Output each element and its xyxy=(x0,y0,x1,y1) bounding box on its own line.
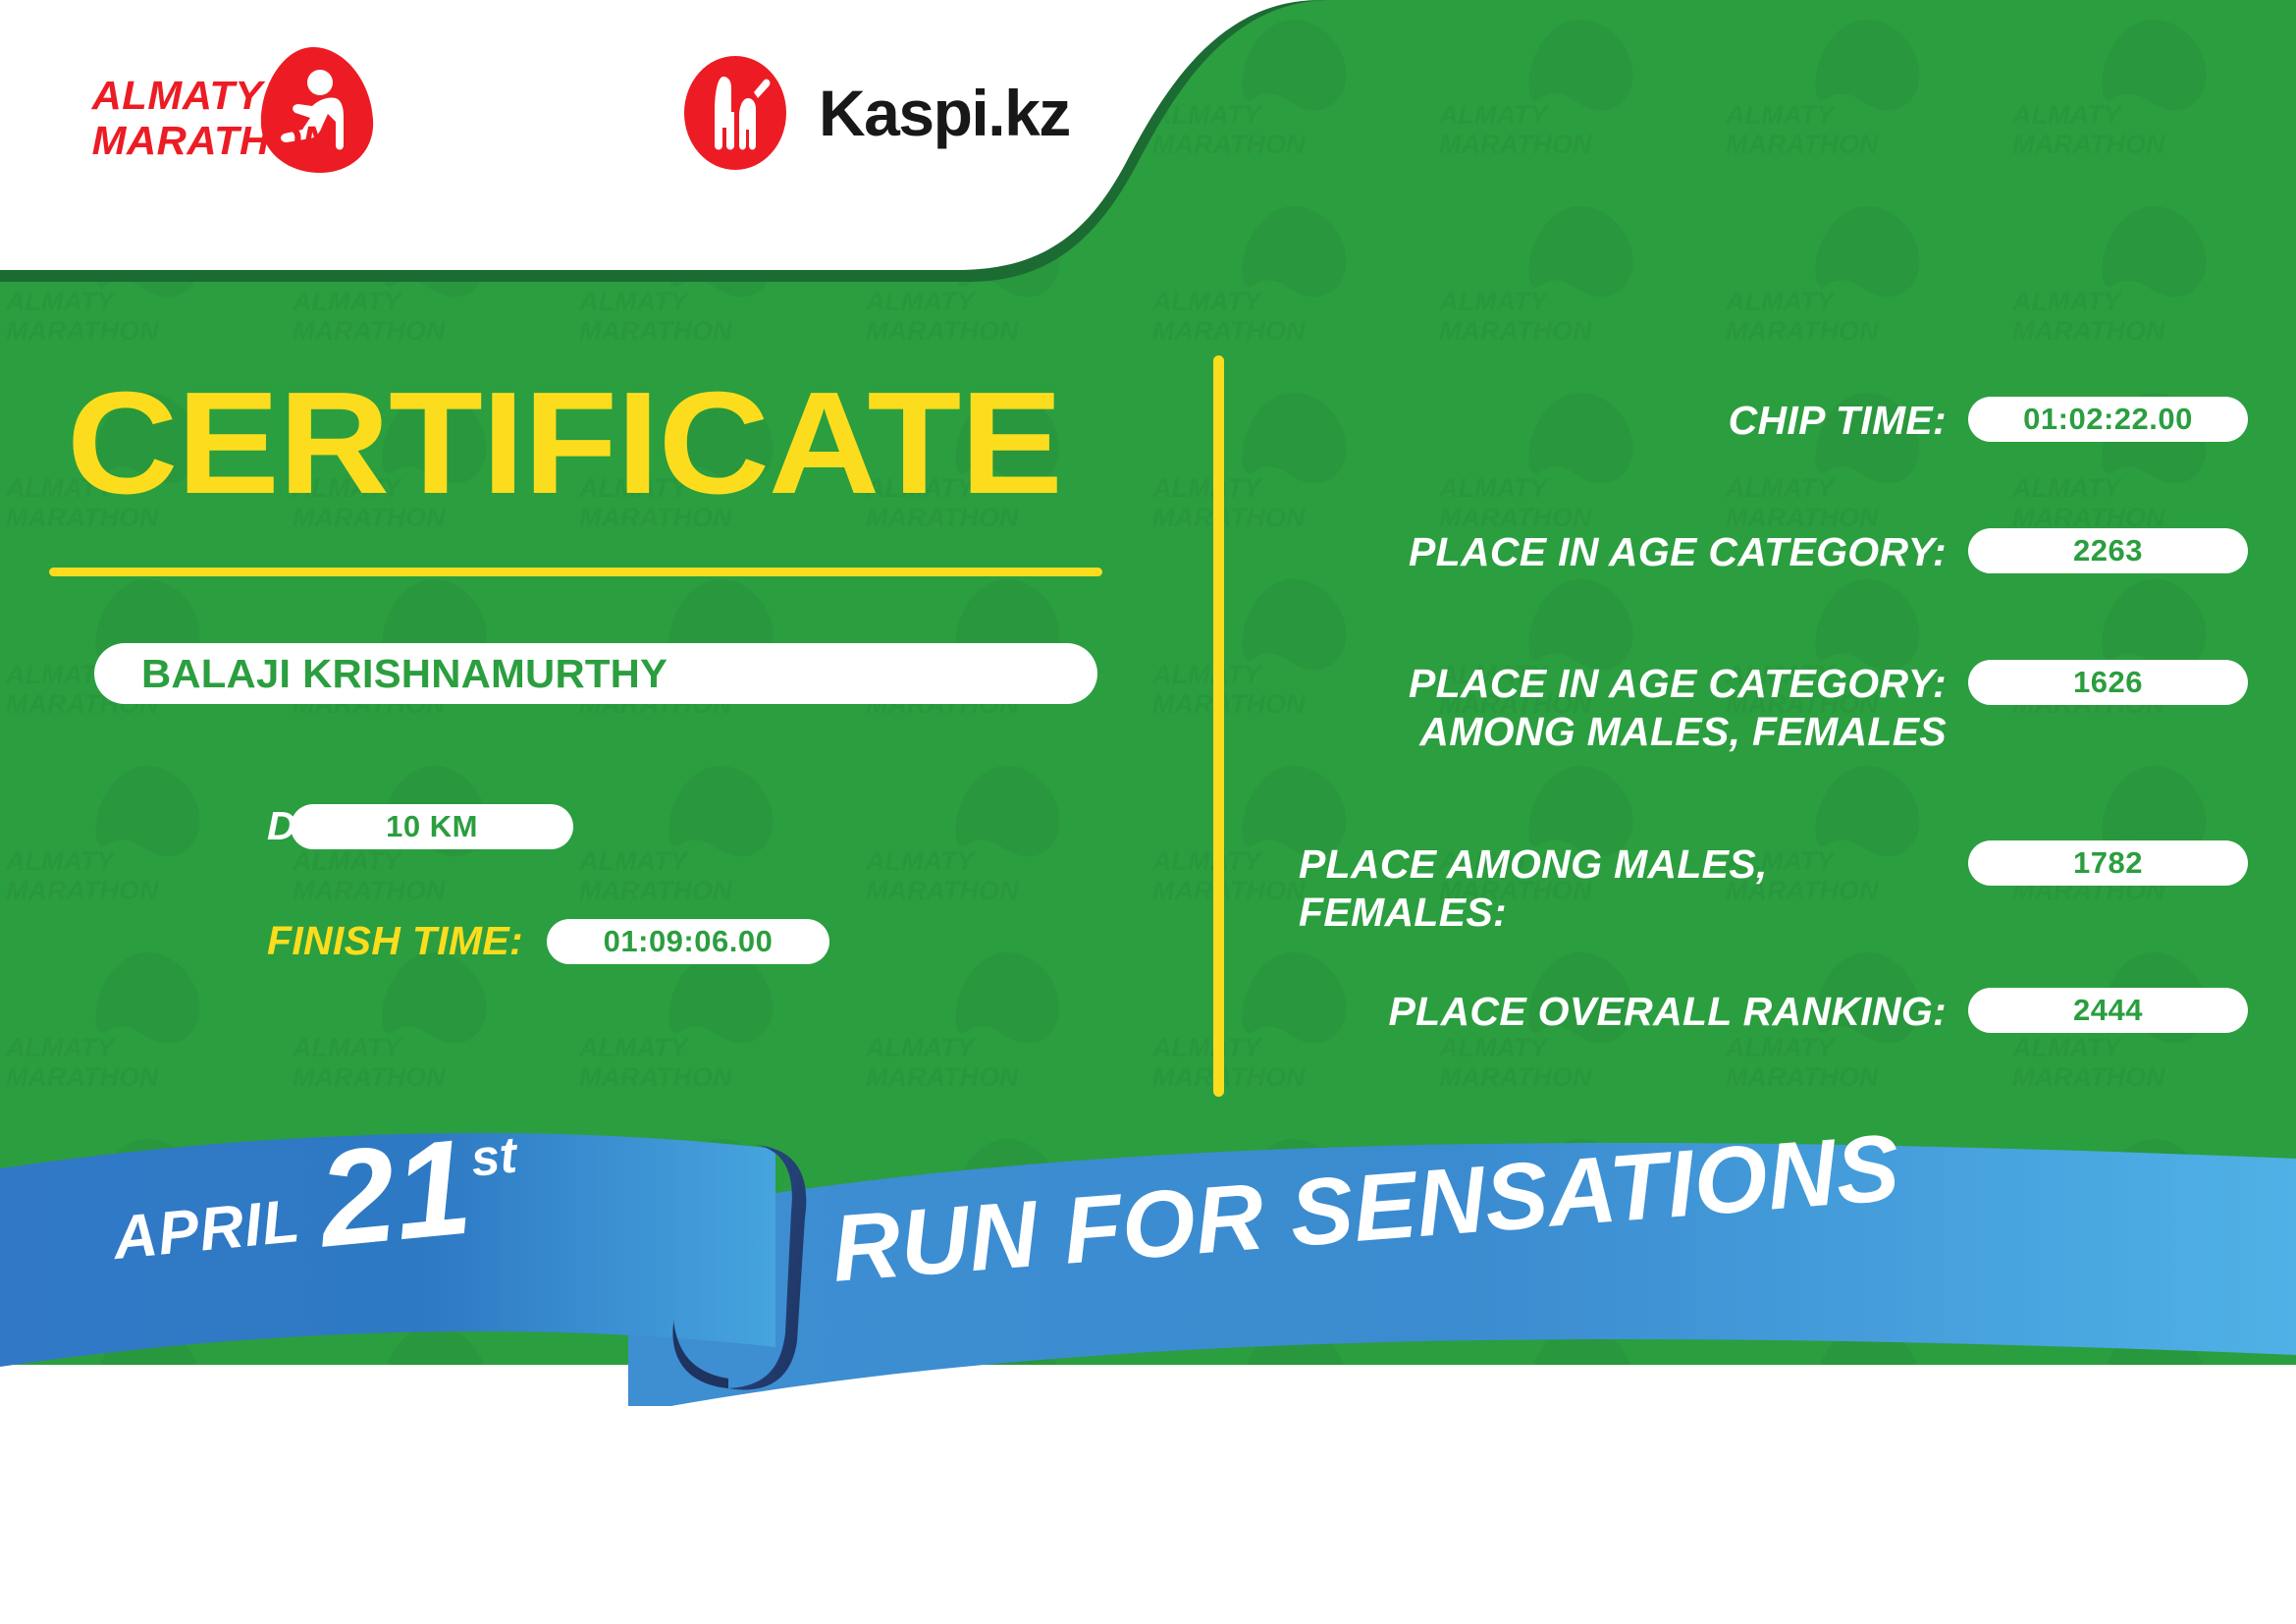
result-row-chip-time: CHIP TIME: 01:02:22.00 xyxy=(1266,397,2248,445)
participant-name-value: BALAJI KRISHNAMURTHY xyxy=(141,651,667,697)
result-row-place-age-category-among: PLACE IN AGE CATEGORY: AMONG MALES, FEMA… xyxy=(1266,660,2248,756)
distance-value-pill: 10 KM xyxy=(291,804,573,849)
distance-value: 10 KM xyxy=(386,809,478,844)
kaspi-logo: Kaspi.kz xyxy=(677,55,1070,171)
chip-time-value-pill: 01:02:22.00 xyxy=(1968,397,2248,442)
chip-time-value: 01:02:22.00 xyxy=(2023,402,2193,437)
column-divider xyxy=(1213,355,1224,1097)
distance-row: DISTANCE: 10 KM xyxy=(267,803,573,849)
marathon-line: MARATHON xyxy=(92,118,333,163)
place-age-category-label: PLACE IN AGE CATEGORY: xyxy=(1409,528,1947,576)
label-line-2: AMONG MALES, FEMALES xyxy=(1299,708,1947,756)
place-overall-ranking-value-pill: 2444 xyxy=(1968,988,2248,1033)
finish-time-value-pill: 01:09:06.00 xyxy=(547,919,829,964)
chip-time-label: CHIP TIME: xyxy=(1729,397,1947,445)
finish-time-value: 01:09:06.00 xyxy=(604,924,774,959)
event-day-suffix: st xyxy=(468,1126,519,1189)
result-row-place-among-males-females: PLACE AMONG MALES, FEMALES: 1782 xyxy=(1266,840,2248,937)
place-age-category-among-label: PLACE IN AGE CATEGORY: AMONG MALES, FEMA… xyxy=(1299,660,1947,756)
place-among-males-females-value-pill: 1782 xyxy=(1968,840,2248,886)
result-row-place-age-category: PLACE IN AGE CATEGORY: 2263 xyxy=(1266,528,2248,576)
finish-time-row: FINISH TIME: 01:09:06.00 xyxy=(267,918,829,964)
participant-name-field: BALAJI KRISHNAMURTHY xyxy=(94,643,1097,704)
almaty-line: ALMATY xyxy=(92,73,333,118)
almaty-marathon-logo: ALMATY MARATHON xyxy=(94,45,418,173)
event-day: 21 xyxy=(314,1124,476,1263)
header-logos: ALMATY MARATHON Kaspi.kz xyxy=(0,0,1227,255)
place-age-category-value: 2263 xyxy=(2073,533,2143,568)
title-underline xyxy=(49,568,1102,576)
result-row-place-overall-ranking: PLACE OVERALL RANKING: 2444 xyxy=(1266,988,2248,1036)
label-line-1: PLACE AMONG MALES, xyxy=(1299,840,1947,889)
kaspi-wordmark: Kaspi.kz xyxy=(819,76,1070,150)
label-line-2: FEMALES: xyxy=(1299,889,1947,937)
almaty-marathon-wordmark: ALMATY MARATHON xyxy=(92,73,333,163)
place-overall-ranking-value: 2444 xyxy=(2073,993,2143,1028)
page-title: CERTIFICATE xyxy=(67,371,1062,516)
place-among-males-females-value: 1782 xyxy=(2073,845,2143,881)
place-overall-ranking-label: PLACE OVERALL RANKING: xyxy=(1389,988,1947,1036)
sponsor-strip: Sulpak SANOFI Empowering Life ORIFLAME S… xyxy=(0,1406,2296,1624)
finish-time-label: FINISH TIME: xyxy=(267,918,523,964)
place-among-males-females-label: PLACE AMONG MALES, FEMALES: xyxy=(1299,840,1947,937)
kaspi-figure-icon xyxy=(677,55,793,171)
certificate-page: ALMATY MARATHON xyxy=(0,0,2296,1624)
place-age-category-among-value: 1626 xyxy=(2073,665,2143,700)
label-line-1: PLACE IN AGE CATEGORY: xyxy=(1299,660,1947,708)
place-age-category-value-pill: 2263 xyxy=(1968,528,2248,573)
place-age-category-among-value-pill: 1626 xyxy=(1968,660,2248,705)
